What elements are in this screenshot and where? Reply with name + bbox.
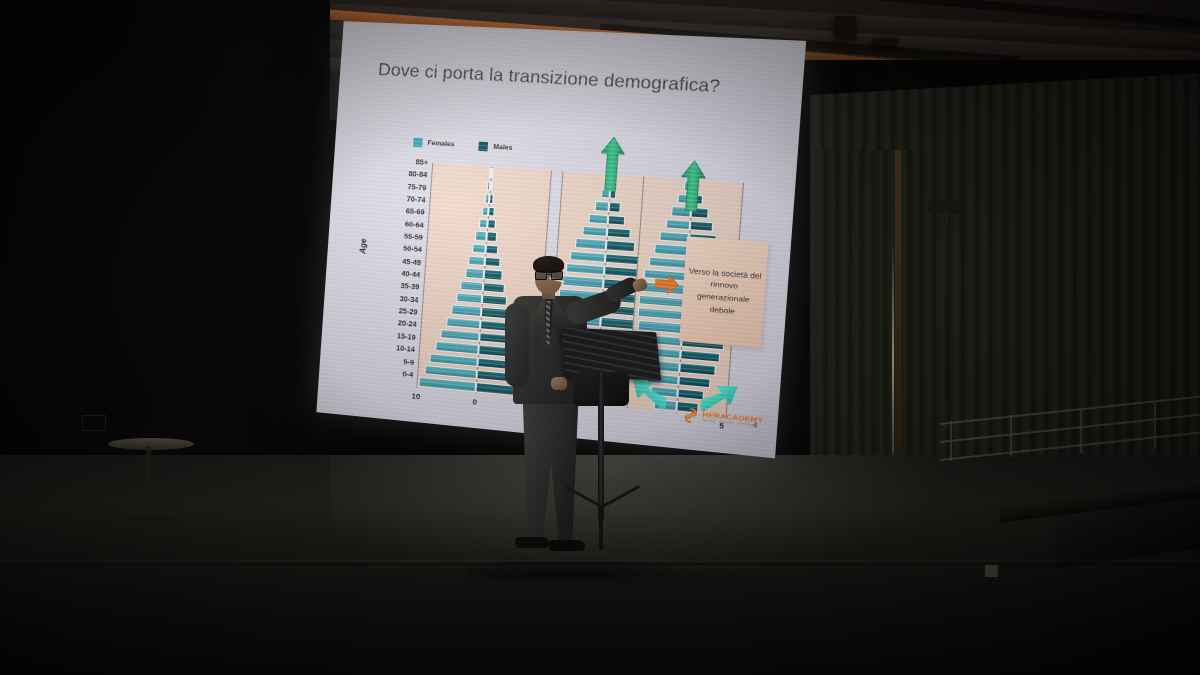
bar-males bbox=[485, 244, 498, 255]
bar-females bbox=[451, 305, 481, 317]
axis-tick-label: 0 bbox=[472, 397, 477, 407]
side-curtain bbox=[815, 150, 930, 480]
stage-light-pole bbox=[945, 210, 949, 400]
legend-label-females: Females bbox=[427, 140, 454, 149]
lectern-pole bbox=[598, 372, 604, 520]
y-axis-title: Age bbox=[358, 238, 368, 254]
table-stem bbox=[146, 446, 151, 518]
bar-females bbox=[419, 377, 476, 392]
wall-socket-plate bbox=[82, 415, 106, 431]
legend-swatch-females bbox=[413, 138, 423, 148]
slide-number: 4 bbox=[752, 420, 757, 430]
bar-males bbox=[491, 169, 494, 179]
bar-males bbox=[488, 206, 494, 216]
bar-females bbox=[588, 213, 608, 224]
lectern-stand bbox=[555, 330, 685, 580]
green-up-arrow-icon bbox=[679, 160, 707, 212]
legend-spacer bbox=[459, 145, 473, 146]
legend-label-males: Males bbox=[493, 144, 512, 152]
small-floor-object bbox=[985, 565, 998, 577]
callout-text: Verso la società del rinnovo generaziona… bbox=[681, 264, 766, 319]
callout-box: Verso la società del rinnovo generaziona… bbox=[679, 236, 768, 348]
bar-males bbox=[489, 194, 494, 204]
ceiling-speaker-icon bbox=[834, 16, 856, 38]
bar-males bbox=[487, 219, 496, 229]
presenter-shoe bbox=[515, 537, 549, 548]
lectern-leg bbox=[600, 485, 640, 509]
side-table bbox=[108, 438, 194, 450]
bar-females bbox=[648, 256, 687, 269]
lectern-leg bbox=[599, 506, 603, 550]
bar-males bbox=[490, 181, 493, 191]
bar-females bbox=[465, 268, 485, 279]
bar-males bbox=[607, 227, 631, 238]
bar-females bbox=[472, 243, 486, 254]
bar-females bbox=[460, 280, 483, 291]
bar-males bbox=[486, 232, 497, 242]
bar-females bbox=[654, 244, 689, 256]
door-frame bbox=[895, 150, 901, 480]
bar-females bbox=[468, 256, 485, 267]
slide-title: Dove ci porta la transizione demografica… bbox=[377, 59, 769, 100]
bar-females bbox=[595, 201, 610, 212]
bar-males bbox=[606, 240, 635, 252]
table-base bbox=[124, 515, 174, 522]
bar-females bbox=[665, 218, 690, 230]
bar-females bbox=[456, 292, 482, 304]
green-up-arrow-icon bbox=[598, 136, 625, 191]
bar-females bbox=[475, 231, 487, 241]
presenter-glasses-icon bbox=[535, 271, 562, 279]
bar-females bbox=[575, 238, 606, 250]
ceiling-light-fixture bbox=[872, 38, 898, 45]
auditorium-scene: Dove ci porta la transizione demografica… bbox=[0, 0, 1200, 675]
door-light-strip bbox=[892, 240, 894, 480]
presenter-left-arm bbox=[505, 303, 529, 387]
legend-swatch-males bbox=[479, 142, 489, 152]
bar-males bbox=[690, 220, 713, 231]
bar-females bbox=[582, 226, 608, 237]
orange-right-arrow-icon bbox=[654, 274, 679, 295]
axis-tick-label: 10 bbox=[411, 391, 420, 401]
chart-legend: Females Males bbox=[413, 138, 513, 153]
bar-males bbox=[608, 215, 626, 226]
bar-females bbox=[660, 231, 690, 243]
bar-males bbox=[609, 202, 622, 213]
